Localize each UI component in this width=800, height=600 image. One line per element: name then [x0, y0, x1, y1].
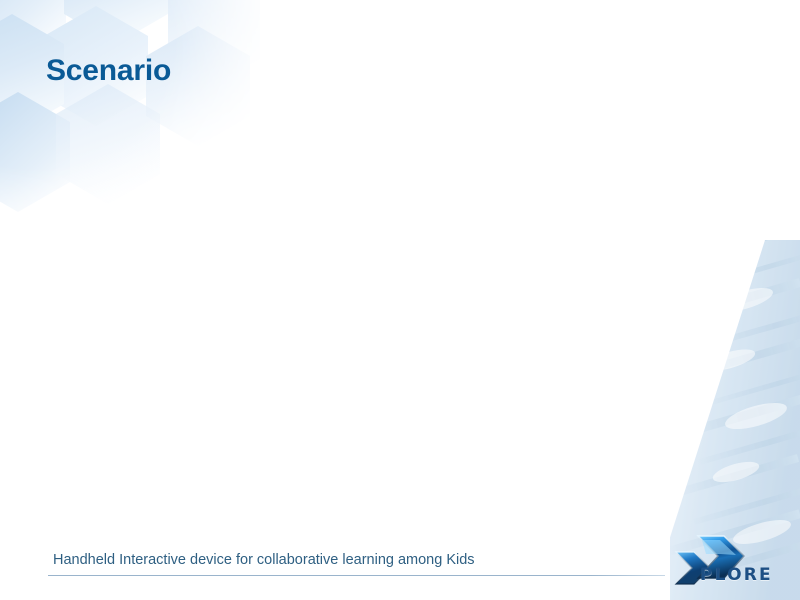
footer-caption: Handheld Interactive device for collabor…: [53, 552, 475, 568]
footer-divider: [48, 575, 665, 576]
slide-content-area: [60, 160, 680, 530]
slide-title: Scenario: [46, 54, 171, 88]
presentation-slide: Scenario: [0, 0, 800, 600]
xplore-wordmark: PLORE: [700, 565, 773, 585]
